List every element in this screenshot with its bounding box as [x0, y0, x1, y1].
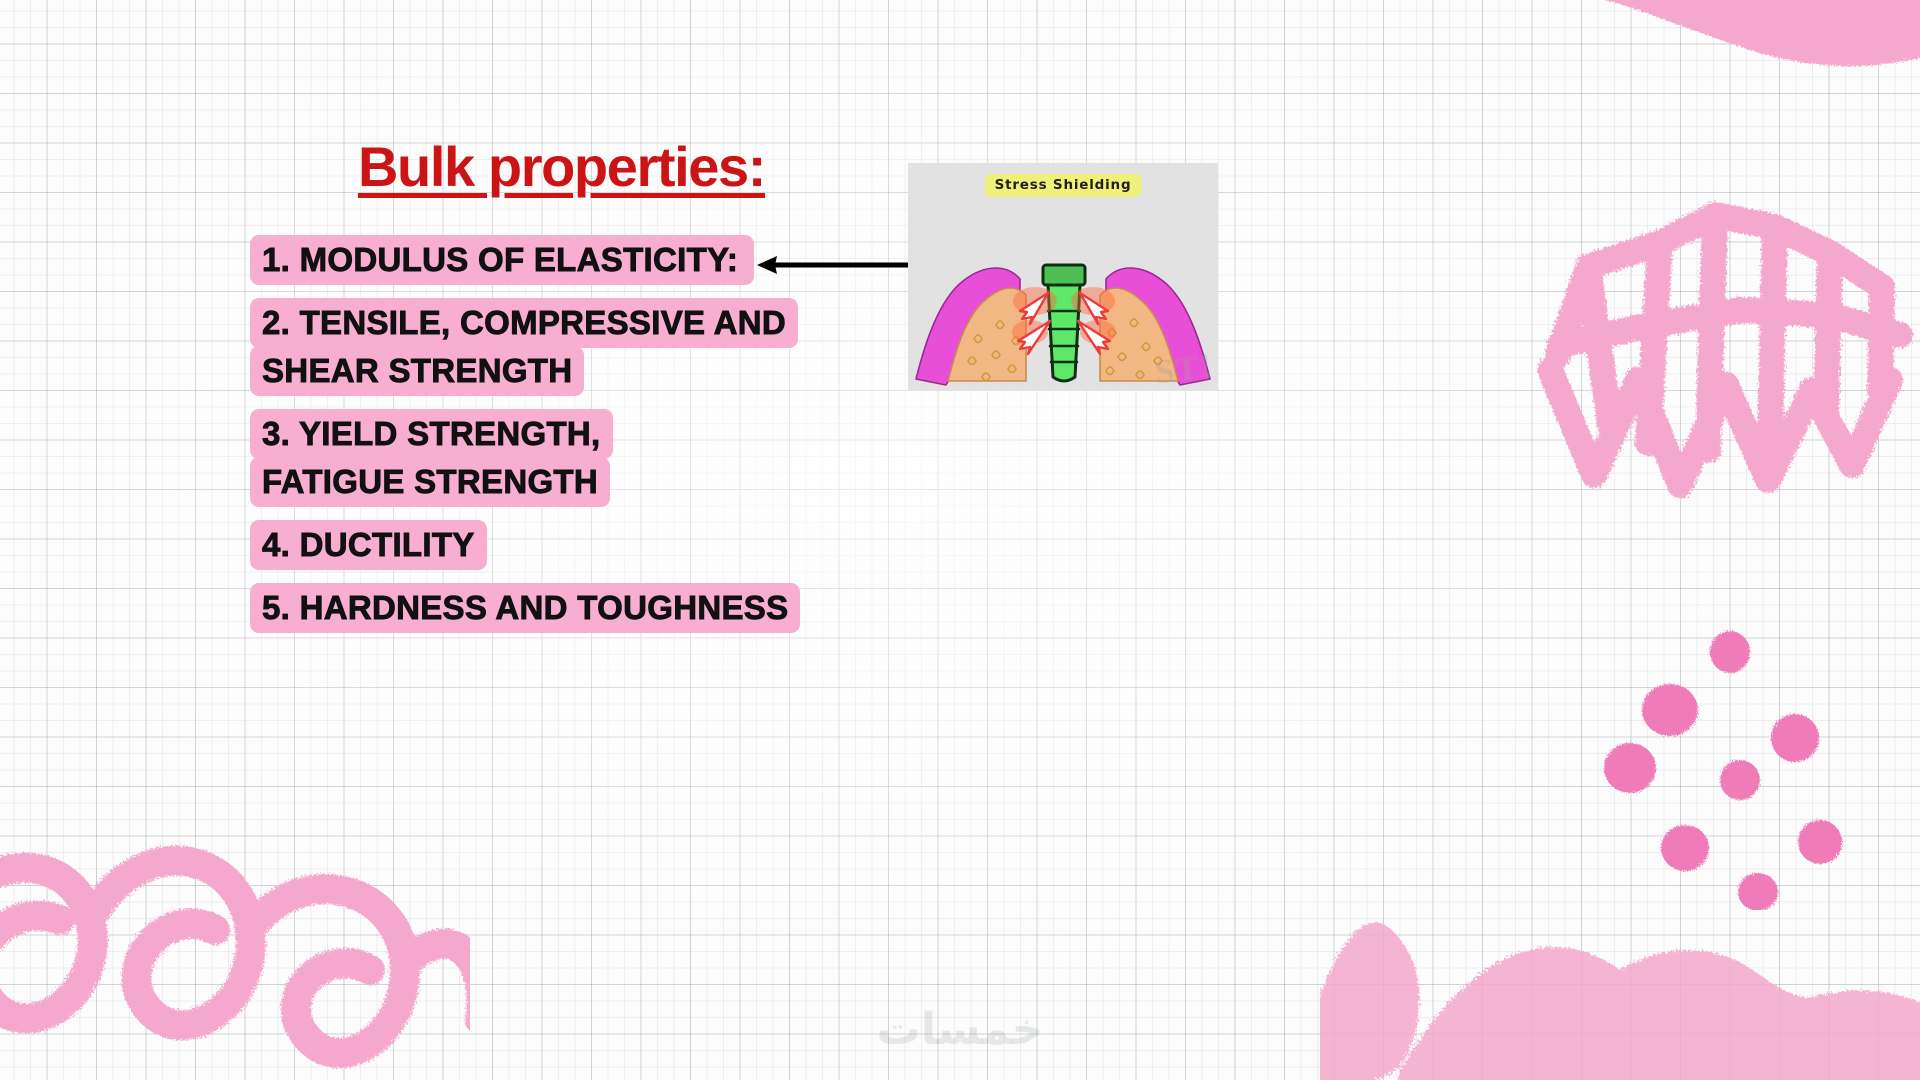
list-item: 3. YIELD STRENGTH, FATIGUE STRENGTH: [250, 410, 750, 506]
annotation-arrow-icon: [755, 247, 915, 283]
card-watermark: ST!: [1153, 348, 1216, 391]
list-item: 5. HARDNESS AND TOUGHNESS: [250, 584, 900, 632]
list-item-text: 1. MODULUS OF ELASTICITY:: [250, 235, 754, 285]
page-watermark: خمسات: [0, 1004, 1920, 1055]
list-item: 2. TENSILE, COMPRESSIVE AND SHEAR STRENG…: [250, 299, 890, 395]
list-item-text: 2. TENSILE, COMPRESSIVE AND SHEAR STRENG…: [250, 298, 798, 396]
list-item: 4. DUCTILITY: [250, 521, 900, 569]
page-title: Bulk properties:: [358, 134, 765, 199]
stress-shielding-image-card: Stress Shielding: [908, 163, 1218, 391]
list-item-text: 5. HARDNESS AND TOUGHNESS: [250, 583, 800, 633]
list-item-text: 4. DUCTILITY: [250, 520, 487, 570]
bulk-properties-list: 1. MODULUS OF ELASTICITY: 2. TENSILE, CO…: [250, 236, 900, 647]
list-item-text: 3. YIELD STRENGTH, FATIGUE STRENGTH: [250, 409, 613, 507]
